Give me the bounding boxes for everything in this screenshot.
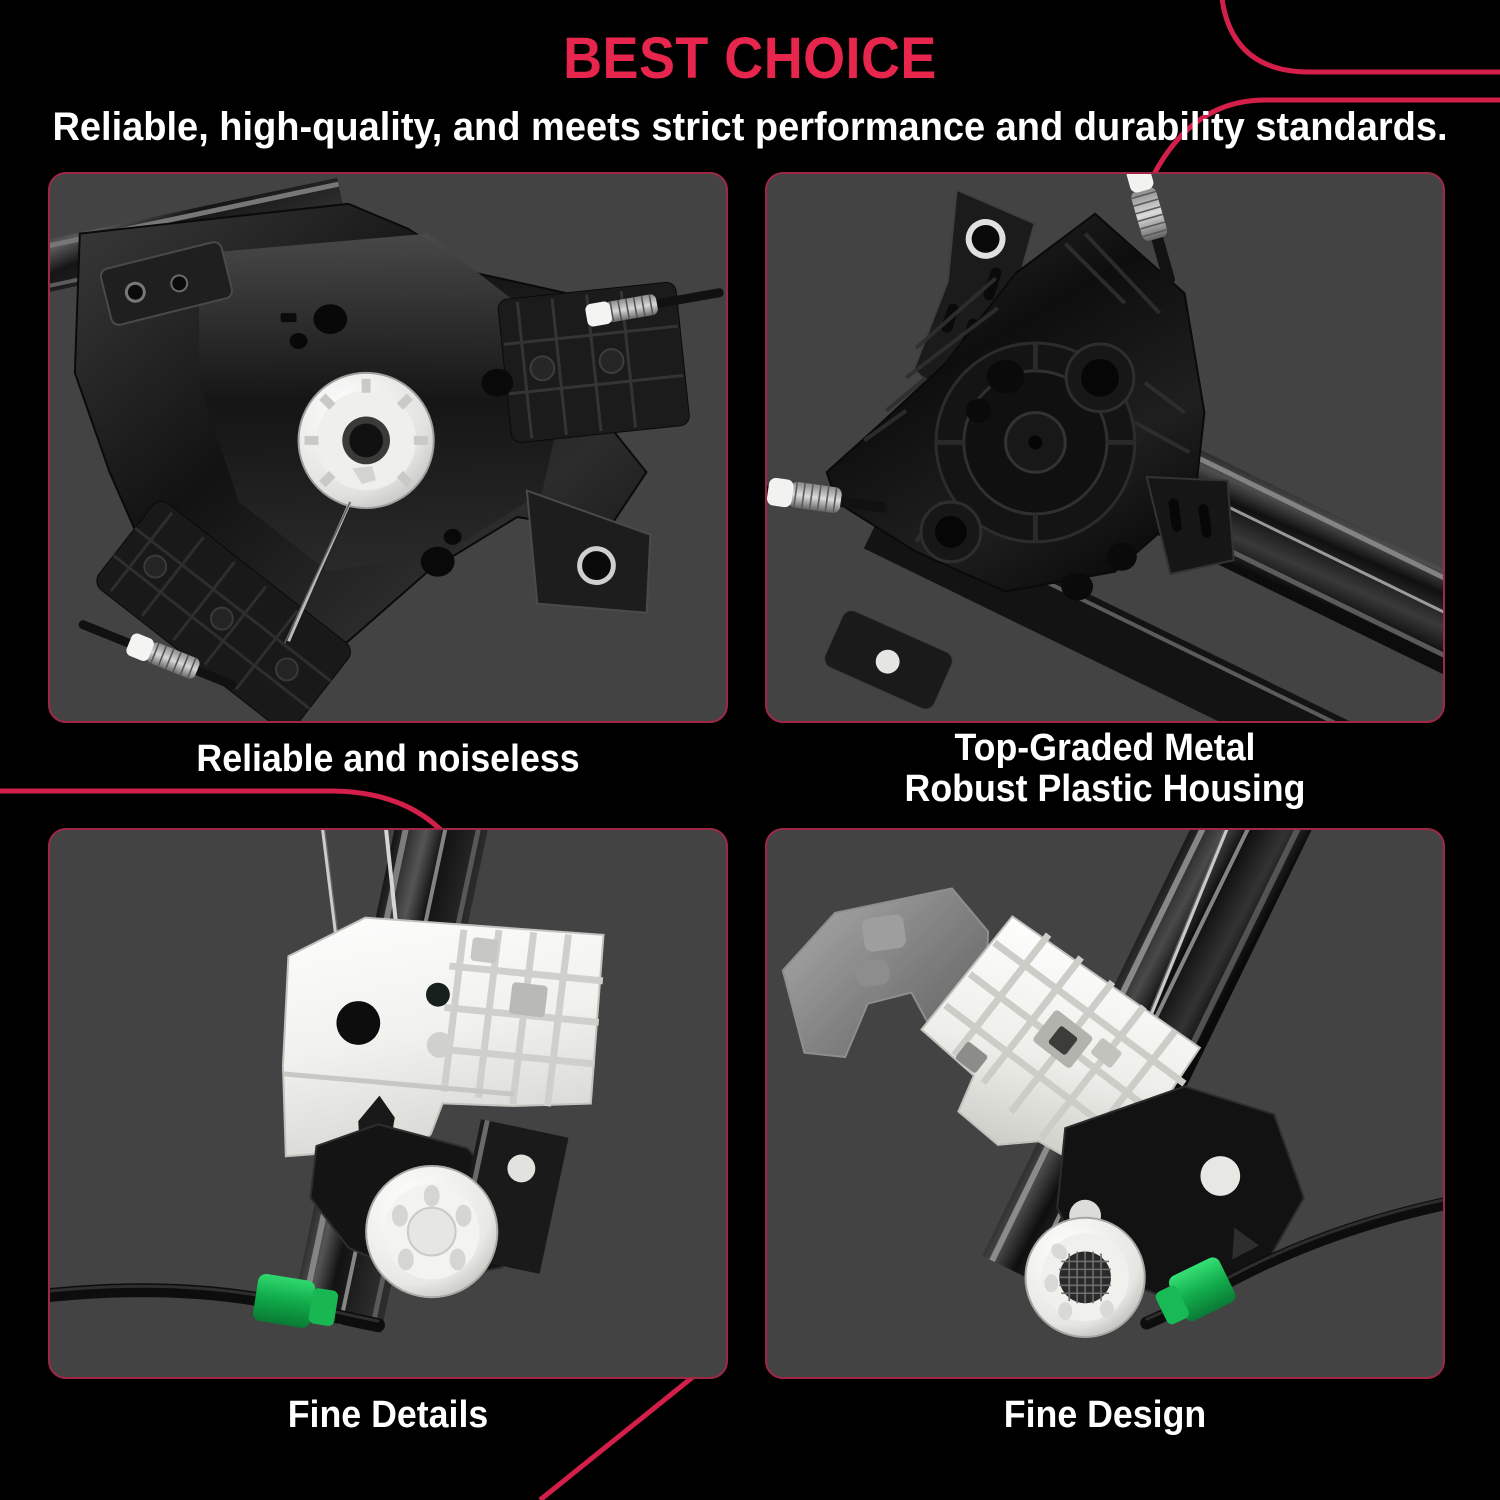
- white-carrier-pulley-illustration: [50, 830, 726, 1378]
- product-image-panel-bottom-right: [765, 828, 1445, 1379]
- header: BEST CHOICE Reliable, high-quality, and …: [0, 0, 1500, 147]
- feature-grid: [0, 0, 1500, 1500]
- carrier-bracket-grommet-illustration: [767, 830, 1443, 1378]
- feature-cell-bottom-left: [48, 828, 728, 1379]
- feature-cell-top-left: [48, 172, 728, 723]
- page-subtitle: Reliable, high-quality, and meets strict…: [38, 88, 1463, 147]
- feature-cell-top-right: [765, 172, 1445, 723]
- feature-cell-bottom-right: [765, 828, 1445, 1379]
- regulator-motor-plate-illustration: [50, 174, 726, 722]
- plastic-housing-and-rail-illustration: [767, 174, 1443, 722]
- product-image-panel-top-left: [48, 172, 728, 723]
- product-image-panel-bottom-left: [48, 828, 728, 1379]
- product-image-panel-top-right: [765, 172, 1445, 723]
- page-title: BEST CHOICE: [53, 0, 1448, 88]
